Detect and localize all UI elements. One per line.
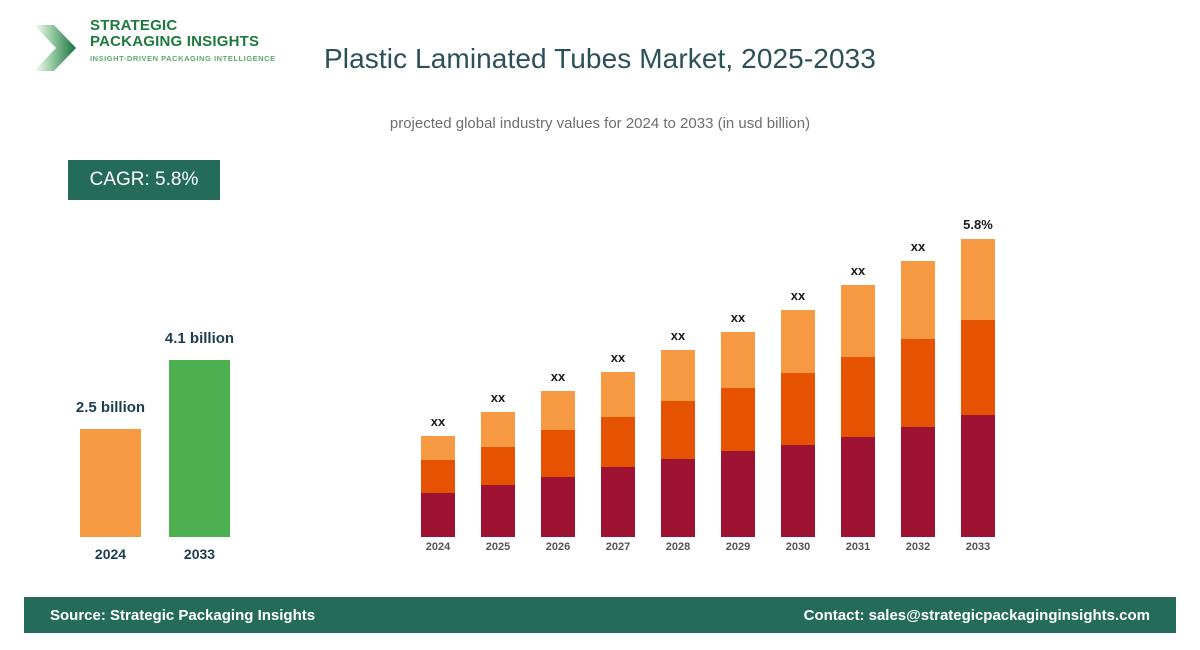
stacked-bar-label-2032: xx xyxy=(911,239,925,254)
stacked-bar-year-2029: 2029 xyxy=(726,541,750,553)
stacked-bar-year-2027: 2027 xyxy=(606,541,630,553)
stacked-bar-year-2033: 2033 xyxy=(966,541,990,553)
footer-source: Source: Strategic Packaging Insights xyxy=(50,607,315,624)
stacked-bar-label-2033: 5.8% xyxy=(963,217,993,232)
endpoint-comparison-chart: 2.5 billion 2024 4.1 billion 2033 xyxy=(0,0,320,600)
stacked-segment-segment-3-2032 xyxy=(901,261,935,339)
stacked-bar-year-2031: 2031 xyxy=(846,541,870,553)
stacked-bar-2030: xx2030 xyxy=(781,310,815,537)
stacked-segment-segment-1-2031 xyxy=(841,437,875,537)
stacked-bar-2025: xx2025 xyxy=(481,412,515,537)
stacked-segment-segment-3-2024 xyxy=(421,436,455,460)
stacked-segment-segment-1-2027 xyxy=(601,467,635,537)
stacked-segment-segment-1-2029 xyxy=(721,451,755,537)
stacked-segment-segment-1-2030 xyxy=(781,445,815,537)
stacked-segment-segment-1-2028 xyxy=(661,459,695,537)
stacked-segment-segment-2-2028 xyxy=(661,401,695,459)
stacked-bar-label-2029: xx xyxy=(731,310,745,325)
stacked-segment-segment-2-2030 xyxy=(781,373,815,445)
stacked-segment-segment-3-2026 xyxy=(541,391,575,430)
stacked-segment-segment-3-2027 xyxy=(601,372,635,417)
comparison-value-2024: 2.5 billion xyxy=(31,399,191,416)
stacked-segment-segment-2-2026 xyxy=(541,430,575,477)
stacked-bar-2026: xx2026 xyxy=(541,391,575,537)
stacked-bar-year-2024: 2024 xyxy=(426,541,450,553)
stacked-bar-label-2024: xx xyxy=(431,414,445,429)
stacked-bar-label-2027: xx xyxy=(611,350,625,365)
comparison-year-2033: 2033 xyxy=(140,546,260,562)
stacked-segment-segment-1-2033 xyxy=(961,415,995,537)
stacked-segment-segment-1-2024 xyxy=(421,493,455,537)
stacked-bar-label-2026: xx xyxy=(551,369,565,384)
stacked-segment-segment-2-2029 xyxy=(721,388,755,451)
stacked-segment-segment-2-2032 xyxy=(901,339,935,427)
stacked-bar-2033: 5.8%2033 xyxy=(961,239,995,537)
stacked-segment-segment-2-2024 xyxy=(421,460,455,493)
stacked-segment-segment-1-2032 xyxy=(901,427,935,537)
comparison-bar-2024 xyxy=(80,429,141,537)
stacked-segment-segment-2-2027 xyxy=(601,417,635,467)
stacked-bar-2031: xx2031 xyxy=(841,285,875,537)
stacked-bar-year-2028: 2028 xyxy=(666,541,690,553)
stacked-segment-segment-3-2031 xyxy=(841,285,875,357)
stacked-bar-label-2031: xx xyxy=(851,263,865,278)
stacked-segment-segment-3-2033 xyxy=(961,239,995,320)
stacked-bar-label-2025: xx xyxy=(491,390,505,405)
stacked-segment-segment-3-2029 xyxy=(721,332,755,388)
stacked-segment-segment-2-2033 xyxy=(961,320,995,415)
stacked-bar-2027: xx2027 xyxy=(601,372,635,537)
stacked-bar-2029: xx2029 xyxy=(721,332,755,537)
stacked-segment-segment-1-2025 xyxy=(481,485,515,537)
stacked-segment-segment-2-2025 xyxy=(481,447,515,485)
stacked-bar-2028: xx2028 xyxy=(661,350,695,537)
footer-bar: Source: Strategic Packaging Insights Con… xyxy=(24,597,1176,633)
stacked-bar-year-2026: 2026 xyxy=(546,541,570,553)
comparison-bar-2033 xyxy=(169,360,230,537)
stacked-bar-year-2032: 2032 xyxy=(906,541,930,553)
comparison-value-2033: 4.1 billion xyxy=(120,330,280,347)
stacked-bar-year-2030: 2030 xyxy=(786,541,810,553)
footer-contact: Contact: sales@strategicpackaginginsight… xyxy=(804,607,1150,624)
stacked-bar-year-2025: 2025 xyxy=(486,541,510,553)
stacked-segment-segment-3-2025 xyxy=(481,412,515,447)
chart-page: STRATEGIC PACKAGING INSIGHTS INSIGHT-DRI… xyxy=(0,0,1200,650)
stacked-segment-segment-3-2028 xyxy=(661,350,695,401)
stacked-bar-label-2030: xx xyxy=(791,288,805,303)
stacked-bar-label-2028: xx xyxy=(671,328,685,343)
stacked-forecast-chart: xx2024xx2025xx2026xx2027xx2028xx2029xx20… xyxy=(400,0,1040,600)
stacked-segment-segment-1-2026 xyxy=(541,477,575,537)
stacked-bar-2032: xx2032 xyxy=(901,261,935,537)
stacked-segment-segment-2-2031 xyxy=(841,357,875,437)
stacked-segment-segment-3-2030 xyxy=(781,310,815,373)
stacked-bar-2024: xx2024 xyxy=(421,436,455,537)
